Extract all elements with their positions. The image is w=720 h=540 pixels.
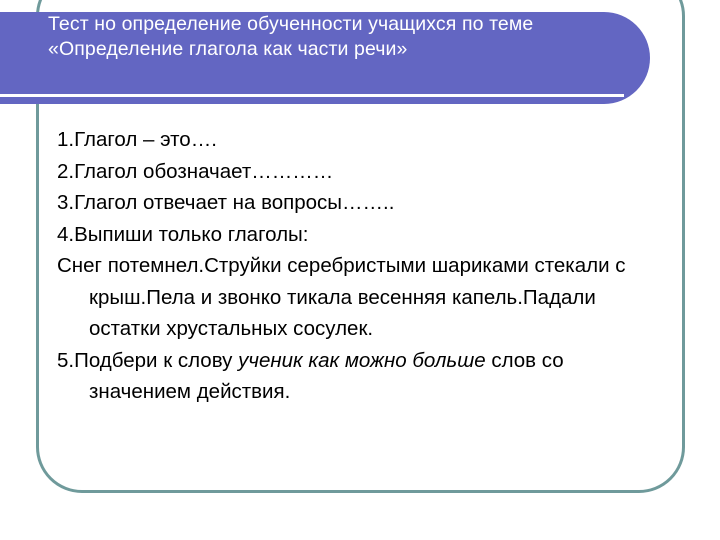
- list-item: 3.Глагол отвечает на вопросы……..: [57, 187, 657, 219]
- slide: Тест но определение обученности учащихся…: [0, 0, 720, 540]
- body-content: 1.Глагол – это…. 2.Глагол обозначает……………: [57, 124, 657, 408]
- item5-emphasis: ученик как можно больше: [238, 349, 486, 372]
- page-title: Тест но определение обученности учащихся…: [48, 12, 628, 62]
- title-line-1: Тест но определение обученности учащихся…: [48, 12, 628, 37]
- list-item: 4.Выпиши только глаголы:: [57, 219, 657, 251]
- list-item: 2.Глагол обозначает…………: [57, 156, 657, 188]
- list-item: 1.Глагол – это….: [57, 124, 657, 156]
- list-item-paragraph: Снег потемнел.Струйки серебристыми шарик…: [57, 250, 657, 345]
- title-underline-rule: [0, 94, 624, 97]
- title-line-2: «Определение глагола как части речи»: [48, 37, 628, 62]
- list-item-emphasis: 5.Подбери к слову ученик как можно больш…: [57, 345, 657, 408]
- item5-prefix: 5.Подбери к слову: [57, 349, 238, 372]
